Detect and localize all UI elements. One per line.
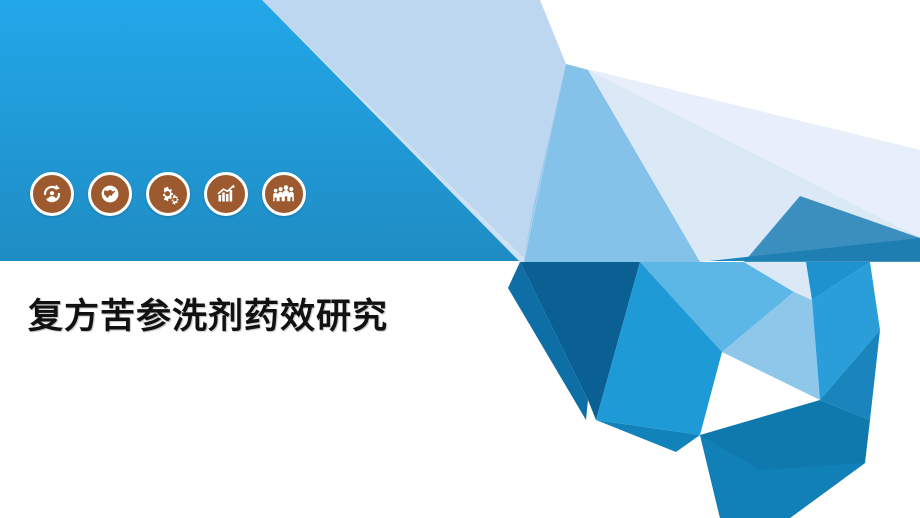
gears-icon[interactable] xyxy=(146,172,190,216)
bar-chart-glyph xyxy=(213,181,239,207)
title-slide: 数智创新 变革未来 xyxy=(0,0,920,518)
refresh-people-icon[interactable] xyxy=(30,172,74,216)
page-title: 复方苦参洗剂药效研究 xyxy=(28,288,388,339)
gears-glyph xyxy=(155,181,181,207)
tagline-text: 数智创新 变革未来 xyxy=(719,26,898,55)
people-group-icon[interactable] xyxy=(262,172,306,216)
globe-glyph xyxy=(97,181,123,207)
icon-row xyxy=(30,172,306,216)
globe-icon[interactable] xyxy=(88,172,132,216)
background-geometric-artwork xyxy=(0,0,920,518)
refresh-people-glyph xyxy=(39,181,65,207)
bar-chart-icon[interactable] xyxy=(204,172,248,216)
people-group-glyph xyxy=(271,181,297,207)
